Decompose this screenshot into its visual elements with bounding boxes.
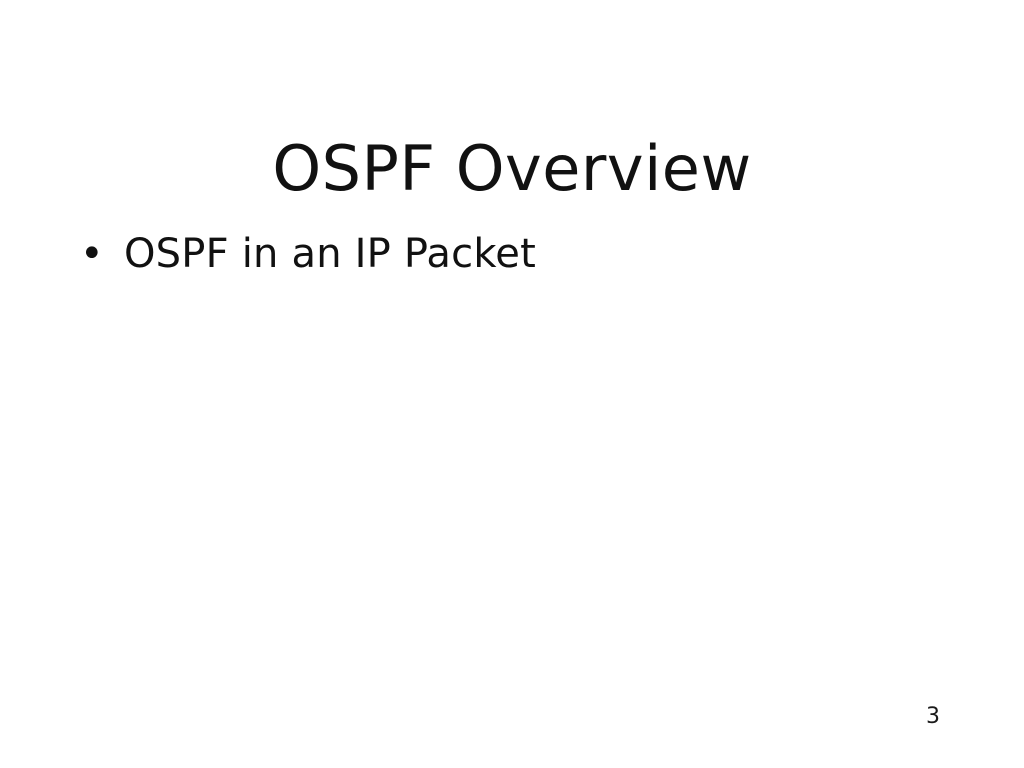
list-item-label: OSPF in an IP Packet xyxy=(124,231,950,277)
slide-canvas: OSPF Overview • OSPF in an IP Packet 3 xyxy=(0,0,1024,768)
bullet-list: • OSPF in an IP Packet xyxy=(80,231,950,287)
list-item: • OSPF in an IP Packet xyxy=(80,231,950,277)
slide-number: 3 xyxy=(926,706,940,728)
page-title: OSPF Overview xyxy=(0,138,1024,200)
bullet-point-icon: • xyxy=(80,231,124,277)
